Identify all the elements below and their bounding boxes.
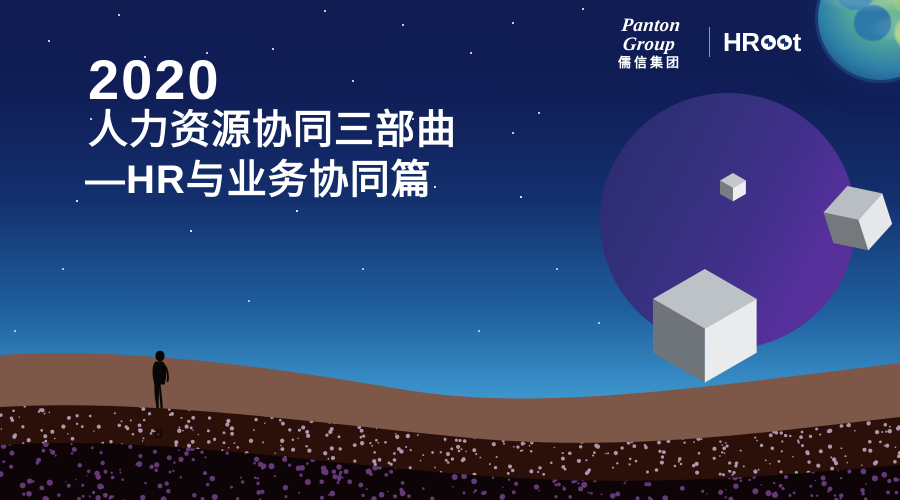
star <box>272 48 274 50</box>
logo-bar: Panton Group 儒信集团 HR t <box>600 20 850 64</box>
terrain-layers <box>0 325 900 500</box>
panton-group-logo[interactable]: Panton Group 儒信集团 <box>600 16 700 69</box>
hroot-prefix: HR <box>723 27 760 58</box>
star <box>512 132 514 134</box>
star <box>62 268 64 270</box>
star <box>402 24 404 26</box>
star <box>598 322 600 324</box>
star <box>324 10 326 12</box>
star <box>538 112 540 114</box>
star <box>118 14 120 16</box>
star <box>190 230 192 232</box>
cube-small <box>718 172 748 202</box>
logo-divider <box>709 27 710 57</box>
star <box>362 268 364 270</box>
globe-icon <box>761 35 776 50</box>
star <box>48 40 50 42</box>
poster-title-main: 人力资源协同三部曲 <box>88 108 457 152</box>
star <box>76 200 78 202</box>
panton-group-chinese: 儒信集团 <box>600 56 700 69</box>
walking-person-silhouette <box>142 348 182 438</box>
hroot-suffix: t <box>793 27 801 58</box>
star <box>352 80 354 82</box>
star <box>248 300 250 302</box>
panton-group-script: Panton Group <box>598 16 702 54</box>
star <box>512 22 514 24</box>
star <box>470 52 472 54</box>
star <box>582 8 584 10</box>
star <box>556 268 558 270</box>
star <box>434 186 436 188</box>
poster-title-sub: —HR与业务协同篇 <box>85 158 432 202</box>
star <box>520 196 522 198</box>
poster-year: 2020 <box>88 52 221 108</box>
poster-canvas: 2020 人力资源协同三部曲 —HR与业务协同篇 Panton Group 儒信… <box>0 0 900 500</box>
star <box>296 210 298 212</box>
hroot-globe-icons <box>761 35 792 50</box>
hroot-logo[interactable]: HR t <box>723 27 801 58</box>
globe-icon <box>777 35 792 50</box>
